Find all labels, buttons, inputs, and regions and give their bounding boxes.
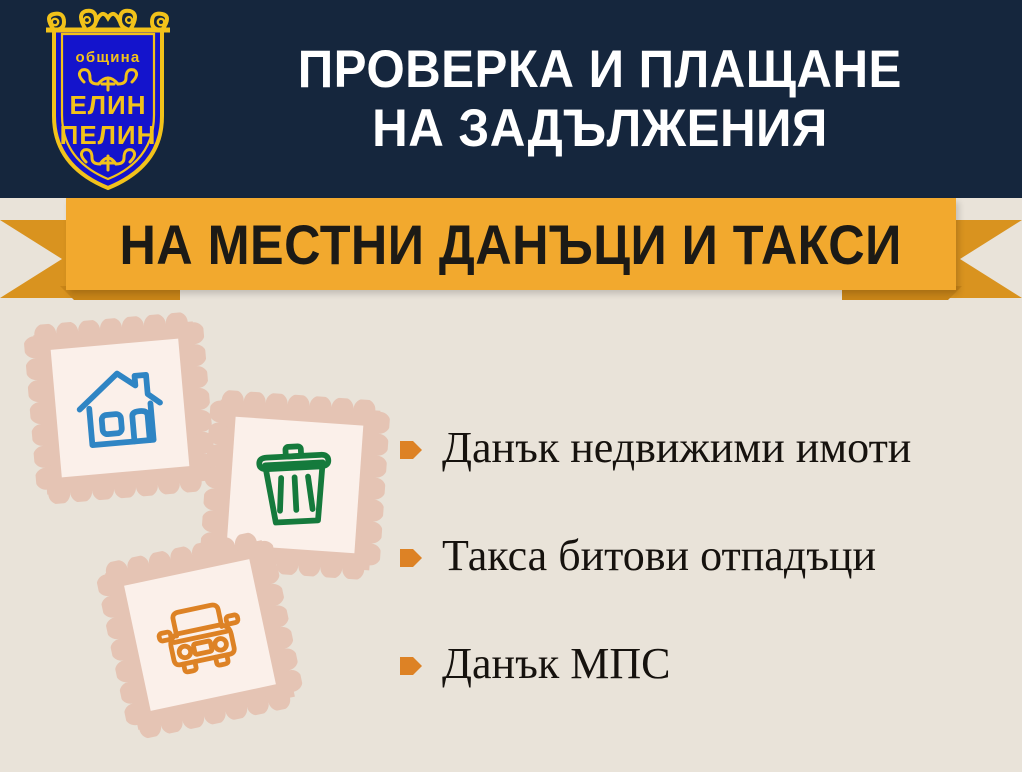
ribbon-banner: НА МЕСТНИ ДАНЪЦИ И ТАКСИ — [66, 198, 956, 290]
page-title-line-2: НА ЗАДЪЛЖЕНИЯ — [372, 99, 828, 158]
list-item[interactable]: Такса битови отпадъци — [400, 528, 1010, 584]
pentagon-arrow-bullet-icon — [400, 654, 422, 678]
page-title-line-1: ПРОВЕРКА И ПЛАЩАНЕ — [298, 40, 902, 99]
stamp-card-property — [22, 310, 217, 505]
pentagon-arrow-bullet-icon — [400, 438, 422, 462]
page-header: община ЕЛИН ПЕЛИН ПРОВЕРКА — [0, 0, 1022, 198]
pentagon-arrow-bullet-icon — [400, 546, 422, 570]
elin-pelin-coat-of-arms: община ЕЛИН ПЕЛИН — [24, 4, 192, 194]
subtitle-ribbon: НА МЕСТНИ ДАНЪЦИ И ТАКСИ — [0, 198, 1022, 298]
tax-type-list: Данък недвижими имоти Такса битови отпад… — [400, 420, 1010, 744]
page-title: ПРОВЕРКА И ПЛАЩАНЕ НА ЗАДЪЛЖЕНИЯ — [195, 0, 1005, 198]
house-icon — [59, 347, 180, 468]
trash-bin-icon — [235, 425, 355, 545]
svg-text:ПЕЛИН: ПЕЛИН — [60, 120, 157, 150]
list-item[interactable]: Данък МПС — [400, 636, 1010, 692]
car-front-icon — [134, 569, 267, 702]
svg-text:ЕЛИН: ЕЛИН — [69, 90, 146, 120]
stamp-card-vehicle — [93, 528, 306, 741]
list-item[interactable]: Данък недвижими имоти — [400, 420, 1010, 476]
list-item-label: Такса битови отпадъци — [442, 534, 876, 578]
svg-text:община: община — [76, 49, 141, 66]
ribbon-label: НА МЕСТНИ ДАНЪЦИ И ТАКСИ — [120, 212, 902, 277]
list-item-label: Данък недвижими имоти — [442, 426, 911, 470]
list-item-label: Данък МПС — [442, 642, 670, 686]
